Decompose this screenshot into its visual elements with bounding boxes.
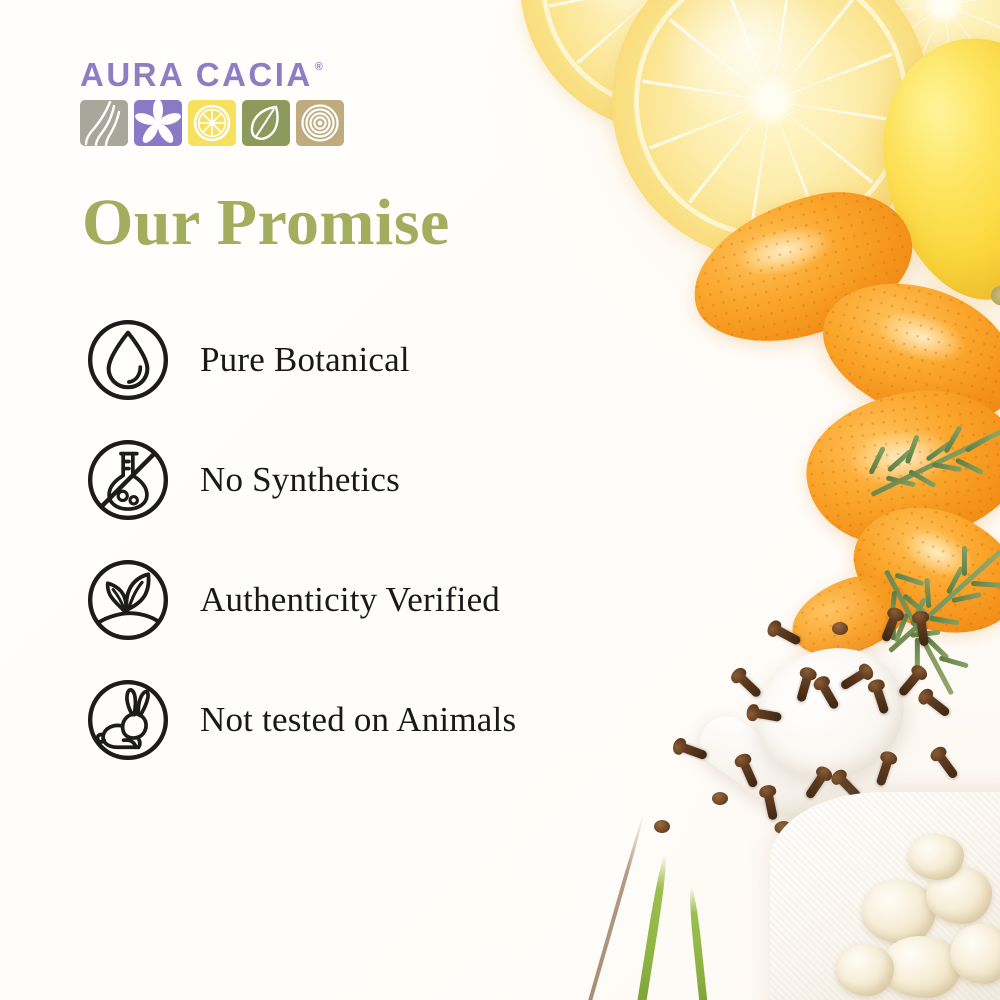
sprout-icon [84,556,172,644]
page-title: Our Promise [82,190,450,256]
flower-tile [134,100,182,146]
content-column: AURA CACIA® [0,0,660,1000]
clove-icon [922,692,951,718]
ceramic-spoon-bowl [741,632,919,796]
flower-icon [134,100,182,146]
clove-icon [872,683,890,714]
white-cloth [770,792,1000,1000]
clove-icon [916,616,929,647]
list-item: Authenticity Verified [84,540,644,660]
frankincense-resin-icon [862,880,936,944]
whole-lemon-icon [869,26,1000,312]
list-item-label: No Synthetics [200,460,400,500]
no-flask-icon [84,436,172,524]
clove-icon [712,792,728,805]
roots-icon [80,100,128,146]
list-item: No Synthetics [84,420,644,540]
clove-icon [817,680,840,710]
clove-icon [804,770,828,800]
brand-wordmark: AURA CACIA [80,58,313,91]
clove-icon [876,755,894,786]
clove-icon [751,708,782,722]
frankincense-resin-icon [836,944,894,996]
frankincense-resin-icon [908,834,964,880]
promise-poster: AURA CACIA® [0,0,1000,1000]
promise-list: Pure Botanical [84,300,644,780]
brand-tile-strip [80,100,344,146]
clove-icon [934,750,959,780]
spiral-tile [296,100,344,146]
clove-icon [839,667,869,691]
brand-logo: AURA CACIA® [80,58,344,146]
orange-peel-icon [806,263,1000,441]
clove-icon [778,826,790,857]
roots-tile [80,100,128,146]
orange-peel-icon [799,381,1000,553]
clove-icon [897,669,923,698]
frankincense-resin-icon [880,936,962,998]
list-item-label: Authenticity Verified [200,580,500,620]
list-item-label: Not tested on Animals [200,700,516,740]
lemongrass-blade-icon [687,886,708,1000]
leaf-tile [242,100,290,146]
clove-icon [796,671,813,702]
citrus-slice-icon [188,100,236,146]
orange-peel-icon [677,175,928,360]
citrus-slice-tile [188,100,236,146]
list-item-label: Pure Botanical [200,340,410,380]
frankincense-resin-icon [950,924,1000,984]
clove-icon [677,742,708,761]
frankincense-resin-icon [926,866,992,924]
clove-icon [881,611,901,642]
clove-icon [735,671,763,698]
orange-peel-icon [835,483,1000,660]
spiral-rings-icon [296,100,344,146]
list-item: Not tested on Animals [84,660,644,780]
lemon-slice-icon [783,0,1000,165]
ceramic-spoon-handle [690,706,850,842]
registered-trademark-icon: ® [315,62,323,73]
rabbit-icon [84,676,172,764]
clove-icon [835,773,862,801]
water-droplet-icon [84,316,172,404]
clove-icon [832,622,848,635]
orange-peel-icon [781,562,918,671]
clove-icon [771,624,802,646]
clove-icon [763,789,778,820]
leaf-icon [242,100,290,146]
list-item: Pure Botanical [84,300,644,420]
clove-icon [738,757,758,788]
